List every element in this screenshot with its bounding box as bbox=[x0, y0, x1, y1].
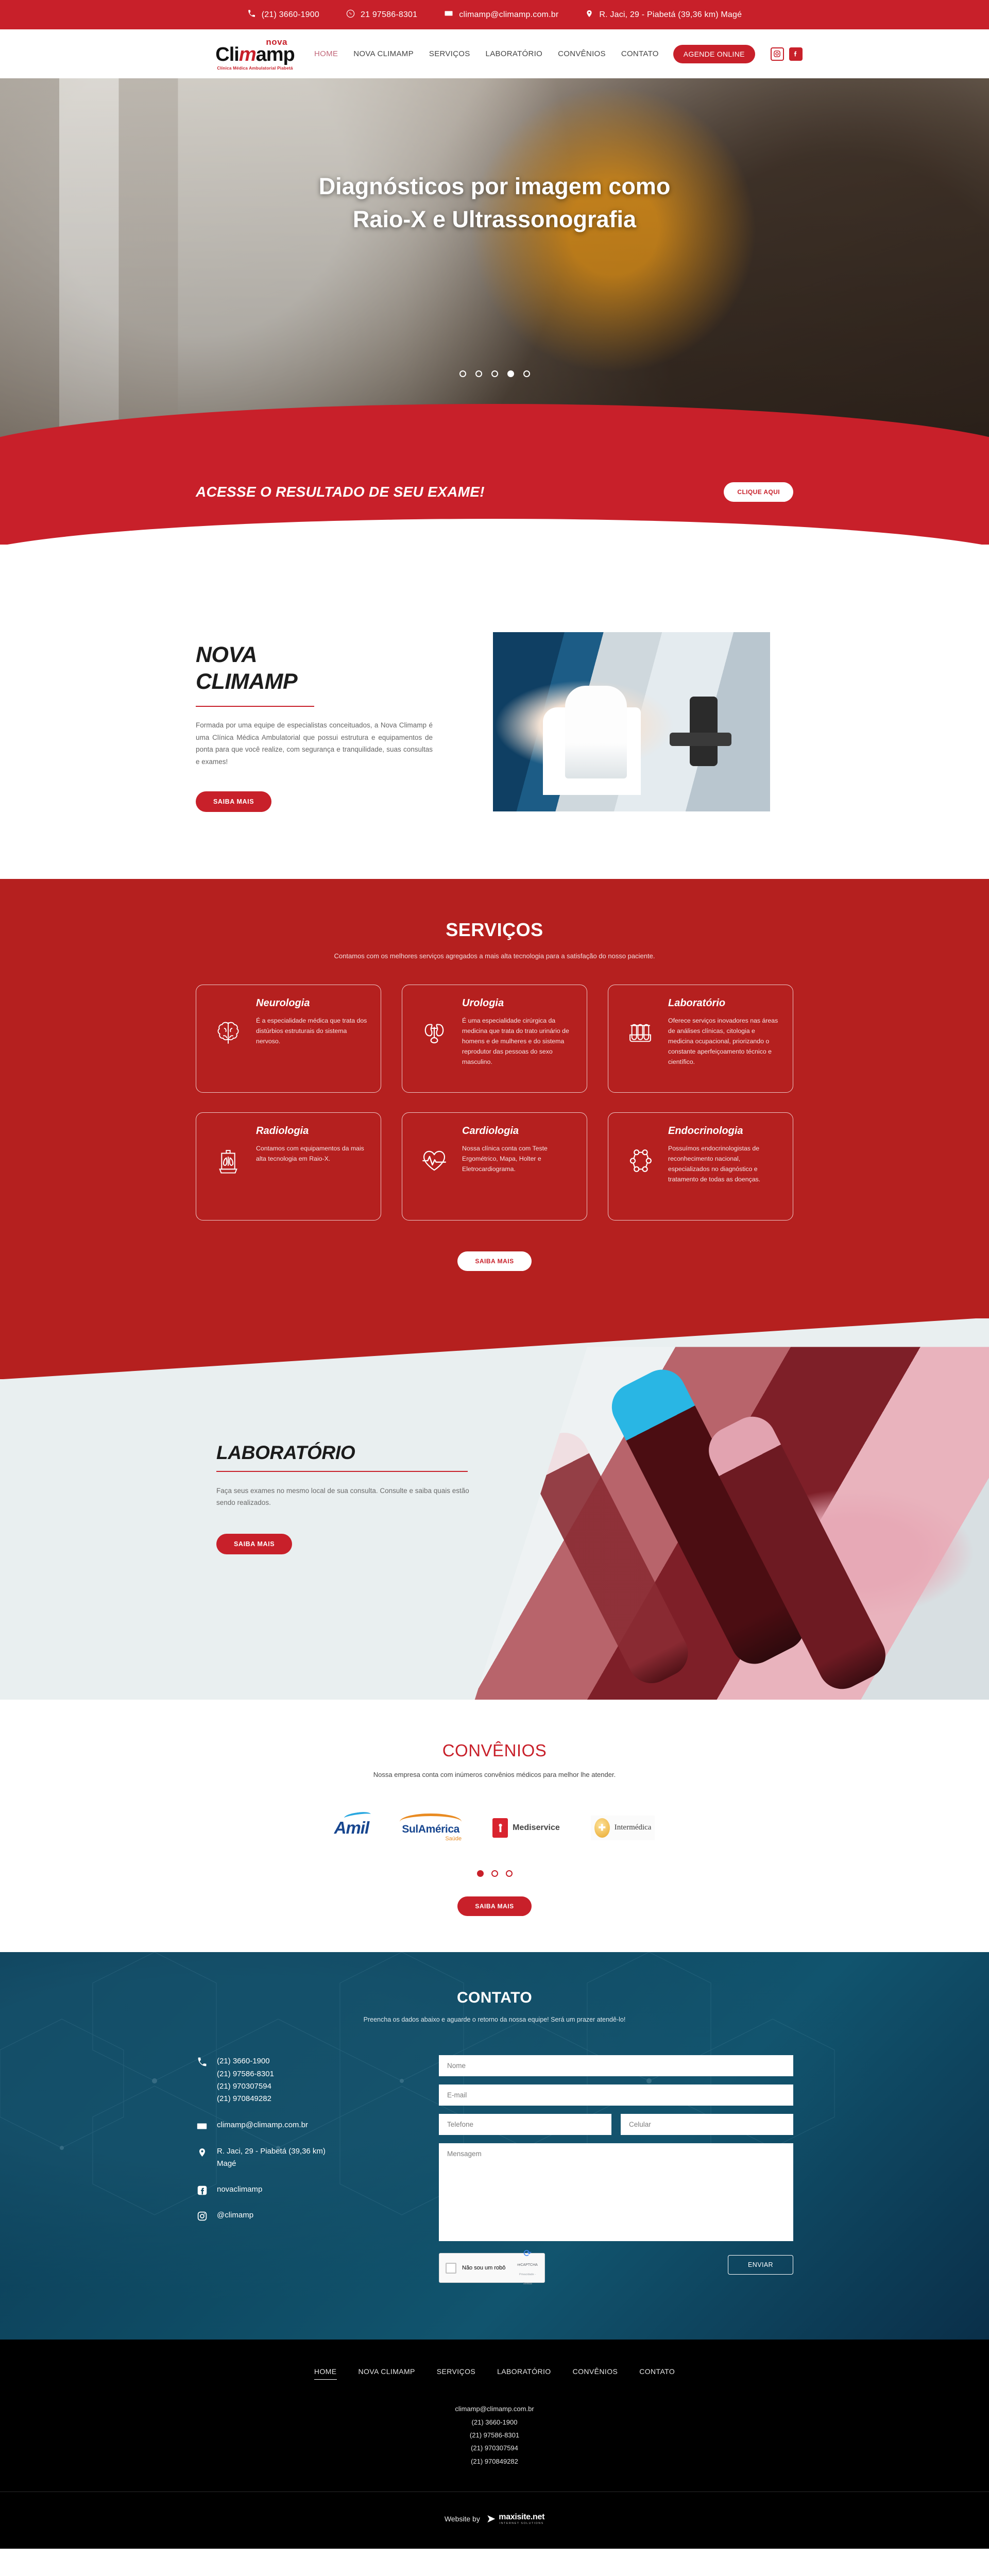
footer-nav-nova-climamp[interactable]: NOVA CLIMAMP bbox=[358, 2367, 415, 2380]
contact-email-text: climamp@climamp.com.br bbox=[217, 2119, 308, 2131]
logo-m: m bbox=[239, 45, 256, 64]
maxisite-brand-sub: INTERNET SOLUTIONS bbox=[499, 2522, 544, 2525]
contact-email-row[interactable]: climamp@climamp.com.br bbox=[196, 2119, 402, 2132]
clique-aqui-button[interactable]: CLIQUE AQUI bbox=[724, 482, 793, 502]
phone-row bbox=[439, 2114, 793, 2135]
site-logo[interactable]: nova Climamp Clínica Médica Ambulatorial… bbox=[216, 38, 294, 71]
main-navbar: nova Climamp Clínica Médica Ambulatorial… bbox=[0, 29, 989, 78]
service-body: Cardiologia Nossa clínica conta com Test… bbox=[462, 1125, 573, 1175]
heart-pulse-icon bbox=[416, 1125, 453, 1176]
maxisite-logo[interactable]: ➤ maxisite.net INTERNET SOLUTIONS bbox=[486, 2513, 544, 2525]
hero-dot-2[interactable] bbox=[475, 370, 482, 377]
hero-dot-1[interactable] bbox=[459, 370, 466, 377]
contact-facebook-text: novaclimamp bbox=[217, 2183, 262, 2196]
nav-item-contato[interactable]: CONTATO bbox=[621, 49, 659, 58]
service-body: Neurologia É a especialidade médica que … bbox=[256, 997, 367, 1047]
hero-dot-5[interactable] bbox=[523, 370, 530, 377]
partner-logo-sulamerica-text: SulAmérica bbox=[400, 1823, 462, 1836]
nav-item-servicos[interactable]: SERVIÇOS bbox=[429, 49, 470, 58]
nav-links: HOME NOVA CLIMAMP SERVIÇOS LABORATÓRIO C… bbox=[314, 49, 659, 58]
test-tubes-icon bbox=[622, 997, 659, 1048]
footer-nav-laboratorio[interactable]: LABORATÓRIO bbox=[497, 2367, 551, 2380]
send-button[interactable]: ENVIAR bbox=[728, 2255, 793, 2275]
footer-nav-servicos[interactable]: SERVIÇOS bbox=[437, 2367, 475, 2380]
topbar-email[interactable]: climamp@climamp.com.br bbox=[444, 9, 558, 21]
service-desc: É a especialidade médica que trata dos d… bbox=[256, 1016, 367, 1047]
topbar-phone[interactable]: (21) 3660-1900 bbox=[247, 9, 319, 21]
footer-phone-1[interactable]: (21) 3660-1900 bbox=[0, 2416, 989, 2429]
footer-credit: Website by ➤ maxisite.net INTERNET SOLUT… bbox=[0, 2492, 989, 2549]
maxisite-brand-name: maxisite.net bbox=[499, 2513, 544, 2521]
topbar-whatsapp[interactable]: 21 97586-8301 bbox=[346, 9, 417, 21]
maxisite-arrow-icon: ➤ bbox=[486, 2513, 496, 2524]
recaptcha-logo-icon: ⟳ bbox=[523, 2248, 532, 2259]
about-title-line1: NOVA bbox=[196, 641, 453, 668]
contact-subtitle: Preencha os dados abaixo e aguarde o ret… bbox=[0, 2016, 989, 2023]
facebook-icon bbox=[196, 2183, 208, 2196]
partner-logo-sulamerica[interactable]: SulAmérica Saúde bbox=[400, 1814, 462, 1842]
about-section: NOVA CLIMAMP Formada por uma equipe de e… bbox=[0, 545, 989, 879]
phone-icon bbox=[196, 2055, 208, 2067]
service-desc: Contamos com equipamentos da mais alta t… bbox=[256, 1144, 367, 1164]
footer-email[interactable]: climamp@climamp.com.br bbox=[0, 2402, 989, 2415]
footer-credit-prefix: Website by bbox=[445, 2515, 480, 2523]
contact-phones-row: (21) 3660-1900 (21) 97586-8301 (21) 9703… bbox=[196, 2055, 402, 2105]
partner-logo-intermedica[interactable]: ✚ Intermédica bbox=[591, 1816, 655, 1840]
partner-logo-intermedica-text: Intermédica bbox=[615, 1823, 652, 1832]
hero-dot-4[interactable] bbox=[507, 370, 514, 377]
partner-logo-amil[interactable]: Amil bbox=[334, 1818, 369, 1838]
service-card-neurologia[interactable]: Neurologia É a especialidade médica que … bbox=[196, 985, 381, 1093]
footer-contact-block: climamp@climamp.com.br (21) 3660-1900 (2… bbox=[0, 2402, 989, 2468]
nav-item-laboratorio[interactable]: LABORATÓRIO bbox=[486, 49, 543, 58]
instagram-icon bbox=[196, 2209, 208, 2222]
hero-headline: Diagnósticos por imagem como Raio-X e Ul… bbox=[0, 170, 989, 236]
services-grid: Neurologia É a especialidade médica que … bbox=[196, 985, 793, 1221]
contact-address-line2: Magé bbox=[217, 2158, 326, 2170]
service-title: Radiologia bbox=[256, 1125, 367, 1137]
service-desc: Possuímos endocrinologistas de reconheci… bbox=[668, 1144, 779, 1185]
xray-lungs-icon bbox=[210, 1125, 247, 1176]
exam-banner-title: ACESSE O RESULTADO DE SEU EXAME! bbox=[196, 484, 485, 500]
service-title: Urologia bbox=[462, 997, 573, 1009]
convenios-dot-2[interactable] bbox=[491, 1870, 498, 1877]
footer-phone-3[interactable]: (21) 970307594 bbox=[0, 2442, 989, 2454]
service-card-radiologia[interactable]: Radiologia Contamos com equipamentos da … bbox=[196, 1112, 381, 1221]
about-text-column: NOVA CLIMAMP Formada por uma equipe de e… bbox=[196, 632, 453, 812]
lab-photo bbox=[474, 1347, 989, 1700]
lab-text-panel: LABORATÓRIO Faça seus exames no mesmo lo… bbox=[216, 1442, 505, 1554]
footer-phone-4[interactable]: (21) 970849282 bbox=[0, 2455, 989, 2468]
lab-paragraph: Faça seus exames no mesmo local de sua c… bbox=[216, 1485, 489, 1509]
about-paragraph: Formada por uma equipe de especialistas … bbox=[196, 719, 433, 768]
service-card-urologia[interactable]: Urologia É uma especialidade cirúrgica d… bbox=[402, 985, 587, 1093]
contact-inner: (21) 3660-1900 (21) 97586-8301 (21) 9703… bbox=[196, 2055, 793, 2283]
topbar-phone-text: (21) 3660-1900 bbox=[262, 10, 319, 20]
nav-social-links bbox=[771, 47, 803, 61]
service-title: Endocrinologia bbox=[668, 1125, 779, 1137]
facebook-icon[interactable] bbox=[789, 47, 803, 61]
location-pin-icon bbox=[196, 2145, 208, 2158]
convenios-carousel-dots bbox=[0, 1870, 989, 1877]
services-saiba-mais-button[interactable]: SAIBA MAIS bbox=[457, 1251, 531, 1271]
topbar-address[interactable]: R. Jaci, 29 - Piabetá (39,36 km) Magé bbox=[585, 9, 742, 21]
topbar-email-text: climamp@climamp.com.br bbox=[459, 10, 558, 20]
mediservice-mark-icon bbox=[492, 1818, 508, 1838]
envelope-icon bbox=[196, 2119, 208, 2132]
service-body: Radiologia Contamos com equipamentos da … bbox=[256, 1125, 367, 1164]
nav-item-nova-climamp[interactable]: NOVA CLIMAMP bbox=[353, 49, 414, 58]
service-title: Cardiologia bbox=[462, 1125, 573, 1137]
service-body: Endocrinologia Possuímos endocrinologist… bbox=[668, 1125, 779, 1185]
location-pin-icon bbox=[585, 9, 593, 21]
logo-wordmark: Climamp bbox=[215, 45, 295, 64]
contact-info-column: (21) 3660-1900 (21) 97586-8301 (21) 9703… bbox=[196, 2055, 402, 2283]
cellphone-input[interactable] bbox=[621, 2114, 793, 2135]
service-title: Laboratório bbox=[668, 997, 779, 1009]
telephone-input[interactable] bbox=[439, 2114, 611, 2135]
envelope-icon bbox=[444, 9, 453, 21]
services-subtitle: Contamos com os melhores serviços agrega… bbox=[0, 952, 989, 960]
message-textarea[interactable] bbox=[439, 2143, 793, 2241]
footer-nav-convenios[interactable]: CONVÊNIOS bbox=[573, 2367, 618, 2380]
footer-nav-home[interactable]: HOME bbox=[314, 2367, 337, 2380]
about-photo-shape-microscope bbox=[690, 697, 718, 766]
form-bottom-row: Não sou um robô ⟳ reCAPTCHA Privacidade … bbox=[439, 2253, 793, 2283]
service-body: Laboratório Oferece serviços inovadores … bbox=[668, 997, 779, 1067]
topbar-whatsapp-text: 21 97586-8301 bbox=[361, 10, 417, 20]
service-desc: Oferece serviços inovadores nas áreas de… bbox=[668, 1016, 779, 1067]
service-desc: Nossa clínica conta com Teste Ergométric… bbox=[462, 1144, 573, 1175]
service-title: Neurologia bbox=[256, 997, 367, 1009]
hero-headline-line1: Diagnósticos por imagem como bbox=[0, 170, 989, 203]
convenios-section: CONVÊNIOS Nossa empresa conta com inúmer… bbox=[0, 1700, 989, 1952]
footer-nav: HOME NOVA CLIMAMP SERVIÇOS LABORATÓRIO C… bbox=[0, 2367, 989, 2380]
hero-slider: Diagnósticos por imagem como Raio-X e Ul… bbox=[0, 78, 989, 439]
hero-bottom-curve bbox=[0, 404, 989, 439]
logo-amp: amp bbox=[256, 45, 295, 64]
recaptcha-widget[interactable]: Não sou um robô ⟳ reCAPTCHA Privacidade … bbox=[439, 2253, 545, 2283]
about-title: NOVA CLIMAMP bbox=[196, 641, 453, 696]
exam-result-banner: ACESSE O RESULTADO DE SEU EXAME! CLIQUE … bbox=[0, 439, 989, 545]
site-footer: HOME NOVA CLIMAMP SERVIÇOS LABORATÓRIO C… bbox=[0, 2340, 989, 2549]
instagram-icon[interactable] bbox=[771, 47, 784, 61]
laboratory-section: LABORATÓRIO Faça seus exames no mesmo lo… bbox=[0, 1318, 989, 1700]
services-section: SERVIÇOS Contamos com os melhores serviç… bbox=[0, 879, 989, 1318]
about-saiba-mais-button[interactable]: SAIBA MAIS bbox=[196, 791, 271, 812]
contact-phone-3[interactable]: (21) 970307594 bbox=[217, 2080, 274, 2093]
service-card-cardiologia[interactable]: Cardiologia Nossa clínica conta com Test… bbox=[402, 1112, 587, 1221]
contact-facebook-row[interactable]: novaclimamp bbox=[196, 2183, 402, 2196]
convenios-dot-1[interactable] bbox=[477, 1870, 484, 1877]
partner-logo-mediservice[interactable]: Mediservice bbox=[492, 1818, 560, 1838]
top-contact-bar: (21) 3660-1900 21 97586-8301 climamp@cli… bbox=[0, 0, 989, 29]
contact-address-line1: R. Jaci, 29 - Piabetá (39,36 km) bbox=[217, 2145, 326, 2158]
contact-title: CONTATO bbox=[0, 1989, 989, 2007]
footer-nav-contato[interactable]: CONTATO bbox=[639, 2367, 675, 2380]
service-card-laboratorio[interactable]: Laboratório Oferece serviços inovadores … bbox=[608, 985, 793, 1093]
contact-phone-4[interactable]: (21) 970849282 bbox=[217, 2093, 274, 2105]
agende-online-button[interactable]: AGENDE ONLINE bbox=[673, 45, 755, 63]
hero-slider-dots bbox=[0, 370, 989, 377]
service-body: Urologia É uma especialidade cirúrgica d… bbox=[462, 997, 573, 1067]
about-photo bbox=[489, 632, 770, 811]
contact-address-row[interactable]: R. Jaci, 29 - Piabetá (39,36 km) Magé bbox=[196, 2145, 402, 2171]
convenios-dot-3[interactable] bbox=[506, 1870, 513, 1877]
contact-form: Não sou um robô ⟳ reCAPTCHA Privacidade … bbox=[439, 2055, 793, 2283]
contact-section: CONTATO Preencha os dados abaixo e aguar… bbox=[0, 1952, 989, 2340]
contact-instagram-text: @climamp bbox=[217, 2209, 253, 2222]
about-photo-shape-coat bbox=[543, 707, 641, 795]
recaptcha-branding: ⟳ reCAPTCHA Privacidade - Termos bbox=[517, 2249, 538, 2287]
convenios-title: CONVÊNIOS bbox=[0, 1741, 989, 1760]
brain-icon bbox=[210, 997, 247, 1048]
exam-banner-bottom-curve bbox=[0, 519, 989, 565]
sulamerica-wave-icon bbox=[400, 1814, 462, 1822]
partner-logo-mediservice-text: Mediservice bbox=[513, 1823, 560, 1833]
contact-address-text: R. Jaci, 29 - Piabetá (39,36 km) Magé bbox=[217, 2145, 326, 2171]
kidneys-icon bbox=[416, 997, 453, 1048]
lab-title: LABORATÓRIO bbox=[216, 1442, 505, 1464]
lab-saiba-mais-button[interactable]: SAIBA MAIS bbox=[216, 1534, 292, 1554]
service-desc: É uma especialidade cirúrgica da medicin… bbox=[462, 1016, 573, 1067]
recaptcha-brand-text: reCAPTCHA bbox=[517, 2263, 538, 2267]
hero-dot-3[interactable] bbox=[491, 370, 498, 377]
recaptcha-terms-text: Privacidade - Termos bbox=[519, 2273, 536, 2285]
phone-icon bbox=[247, 9, 256, 21]
contact-phones-list: (21) 3660-1900 (21) 97586-8301 (21) 9703… bbox=[217, 2055, 274, 2105]
logo-tagline: Clínica Médica Ambulatorial Piabetá bbox=[217, 66, 293, 71]
page-root: (21) 3660-1900 21 97586-8301 climamp@cli… bbox=[0, 0, 989, 2549]
footer-phone-2[interactable]: (21) 97586-8301 bbox=[0, 2429, 989, 2442]
recaptcha-label: Não sou um robô bbox=[462, 2265, 511, 2271]
intermedica-mark-icon: ✚ bbox=[594, 1818, 610, 1838]
partner-logo-sulamerica-sub: Saúde bbox=[400, 1836, 462, 1842]
email-input[interactable] bbox=[439, 2084, 793, 2106]
logo-cli: Cli bbox=[215, 45, 239, 64]
about-inner: NOVA CLIMAMP Formada por uma equipe de e… bbox=[196, 632, 793, 812]
nav-item-home[interactable]: HOME bbox=[314, 49, 338, 58]
about-title-line2: CLIMAMP bbox=[196, 668, 453, 695]
convenios-saiba-mais-button[interactable]: SAIBA MAIS bbox=[457, 1896, 531, 1916]
whatsapp-icon bbox=[346, 9, 355, 21]
about-divider bbox=[196, 706, 314, 707]
nav-item-convenios[interactable]: CONVÊNIOS bbox=[558, 49, 606, 58]
convenios-subtitle: Nossa empresa conta com inúmeros convêni… bbox=[0, 1771, 989, 1778]
convenios-logo-carousel: Amil SulAmérica Saúde Mediservice ✚ Inte… bbox=[0, 1814, 989, 1842]
contact-phone-2[interactable]: (21) 97586-8301 bbox=[217, 2068, 274, 2080]
topbar-address-text: R. Jaci, 29 - Piabetá (39,36 km) Magé bbox=[599, 10, 742, 20]
lab-divider bbox=[216, 1471, 468, 1472]
contact-instagram-row[interactable]: @climamp bbox=[196, 2209, 402, 2222]
services-title: SERVIÇOS bbox=[0, 919, 989, 941]
partner-logo-amil-text: Amil bbox=[334, 1818, 369, 1837]
molecule-icon bbox=[622, 1125, 659, 1176]
hero-headline-line2: Raio-X e Ultrassonografia bbox=[0, 203, 989, 236]
recaptcha-checkbox[interactable] bbox=[446, 2263, 456, 2274]
about-photo-shape-base bbox=[670, 733, 731, 746]
contact-phone-1[interactable]: (21) 3660-1900 bbox=[217, 2055, 274, 2067]
name-input[interactable] bbox=[439, 2055, 793, 2076]
service-card-endocrinologia[interactable]: Endocrinologia Possuímos endocrinologist… bbox=[608, 1112, 793, 1221]
exam-banner-inner: ACESSE O RESULTADO DE SEU EXAME! CLIQUE … bbox=[196, 482, 793, 502]
